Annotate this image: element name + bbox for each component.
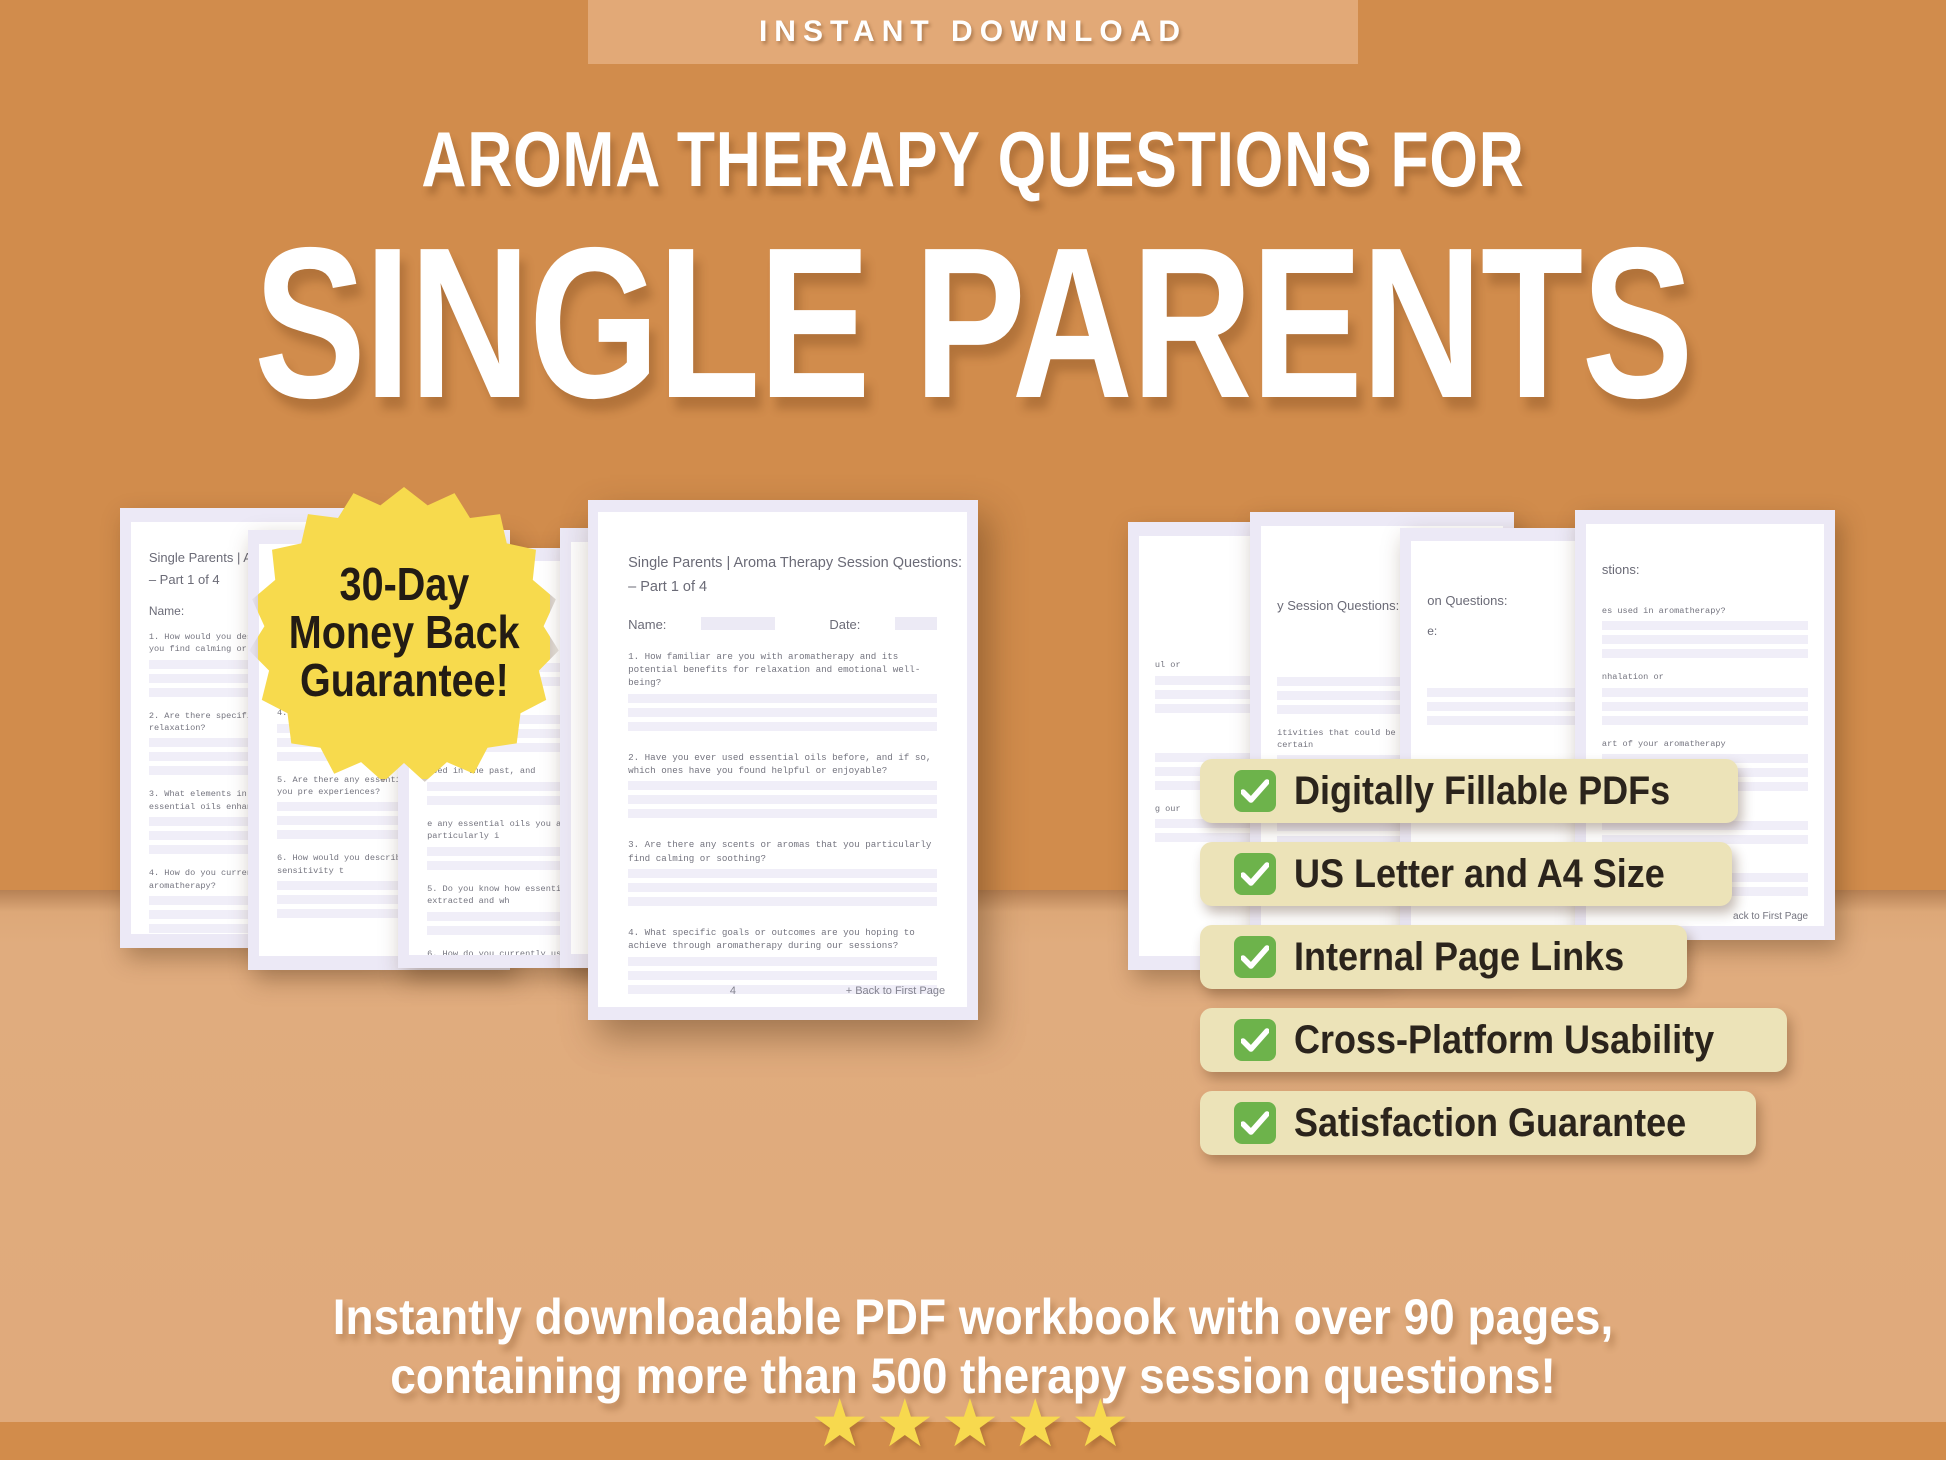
feature-tag-label: Satisfaction Guarantee bbox=[1294, 1101, 1686, 1146]
page-title-line1: AROMA THERAPY QUESTIONS FOR bbox=[195, 120, 1752, 198]
feature-tag-internal-page-links: Internal Page Links bbox=[1200, 925, 1687, 989]
main-page-subtitle: – Part 1 of 4 bbox=[628, 574, 937, 600]
check-icon bbox=[1234, 770, 1276, 812]
page8-fragment-1: es used in aromatherapy? bbox=[1602, 605, 1808, 617]
page8-fragment-2: nhalation or bbox=[1602, 671, 1808, 683]
check-icon bbox=[1234, 1019, 1276, 1061]
feature-tag-us-letter-and-a4-size: US Letter and A4 Size bbox=[1200, 842, 1732, 906]
check-icon bbox=[1234, 1102, 1276, 1144]
answer-lines[interactable] bbox=[628, 869, 937, 906]
main-page-field-row: Name: Date: bbox=[628, 617, 937, 632]
main-page-date-label: Date: bbox=[829, 617, 860, 632]
feature-tag-digitally-fillable-pdfs: Digitally Fillable PDFs bbox=[1200, 759, 1738, 823]
page-title-line2: SINGLE PARENTS bbox=[214, 215, 1732, 430]
answer-lines bbox=[1602, 688, 1808, 725]
document-preview-main: Single Parents | Aroma Therapy Session Q… bbox=[588, 500, 978, 1020]
page8-title: stions: bbox=[1602, 560, 1808, 580]
page8-back-link: ack to First Page bbox=[1602, 910, 1808, 925]
feature-tag-cross-platform-usability: Cross-Platform Usability bbox=[1200, 1008, 1787, 1072]
answer-lines[interactable] bbox=[628, 694, 937, 731]
main-question-3: 3. Are there any scents or aromas that y… bbox=[628, 838, 937, 865]
badge-line-3: Guarantee! bbox=[300, 657, 509, 705]
feature-tag-label: Cross-Platform Usability bbox=[1294, 1018, 1714, 1063]
main-page-footer: 4 + Back to First Page bbox=[598, 985, 967, 997]
answer-lines bbox=[1602, 621, 1808, 658]
badge-line-1: 30-Day bbox=[339, 561, 469, 609]
feature-tag-satisfaction-guarantee: Satisfaction Guarantee bbox=[1200, 1091, 1756, 1155]
answer-lines bbox=[1602, 821, 1808, 844]
main-page-title: Single Parents | Aroma Therapy Session Q… bbox=[628, 552, 937, 574]
star-rating: ★★★★★ bbox=[0, 1390, 1946, 1456]
page1-name-label: Name: bbox=[149, 604, 184, 618]
feature-tag-label: Digitally Fillable PDFs bbox=[1294, 769, 1670, 814]
name-input[interactable] bbox=[701, 617, 775, 630]
main-question-4: 4. What specific goals or outcomes are y… bbox=[628, 926, 937, 953]
page7-name-label: e: bbox=[1427, 624, 1437, 638]
main-page-name-label: Name: bbox=[628, 617, 666, 632]
page8-fragment-3: art of your aromatherapy bbox=[1602, 738, 1808, 750]
main-question-2: 2. Have you ever used essential oils bef… bbox=[628, 751, 937, 778]
feature-tag-label: Internal Page Links bbox=[1294, 935, 1624, 980]
back-to-first-page-link[interactable]: + Back to First Page bbox=[846, 985, 945, 997]
main-question-1: 1. How familiar are you with aromatherap… bbox=[628, 650, 937, 690]
date-input[interactable] bbox=[895, 617, 937, 630]
answer-lines[interactable] bbox=[628, 781, 937, 818]
check-icon bbox=[1234, 936, 1276, 978]
footer-description-line1: Instantly downloadable PDF workbook with… bbox=[78, 1288, 1868, 1347]
badge-line-2: Money Back bbox=[289, 609, 520, 657]
feature-tag-label: US Letter and A4 Size bbox=[1294, 852, 1665, 897]
instant-download-label: INSTANT DOWNLOAD bbox=[588, 0, 1358, 64]
check-icon bbox=[1234, 853, 1276, 895]
